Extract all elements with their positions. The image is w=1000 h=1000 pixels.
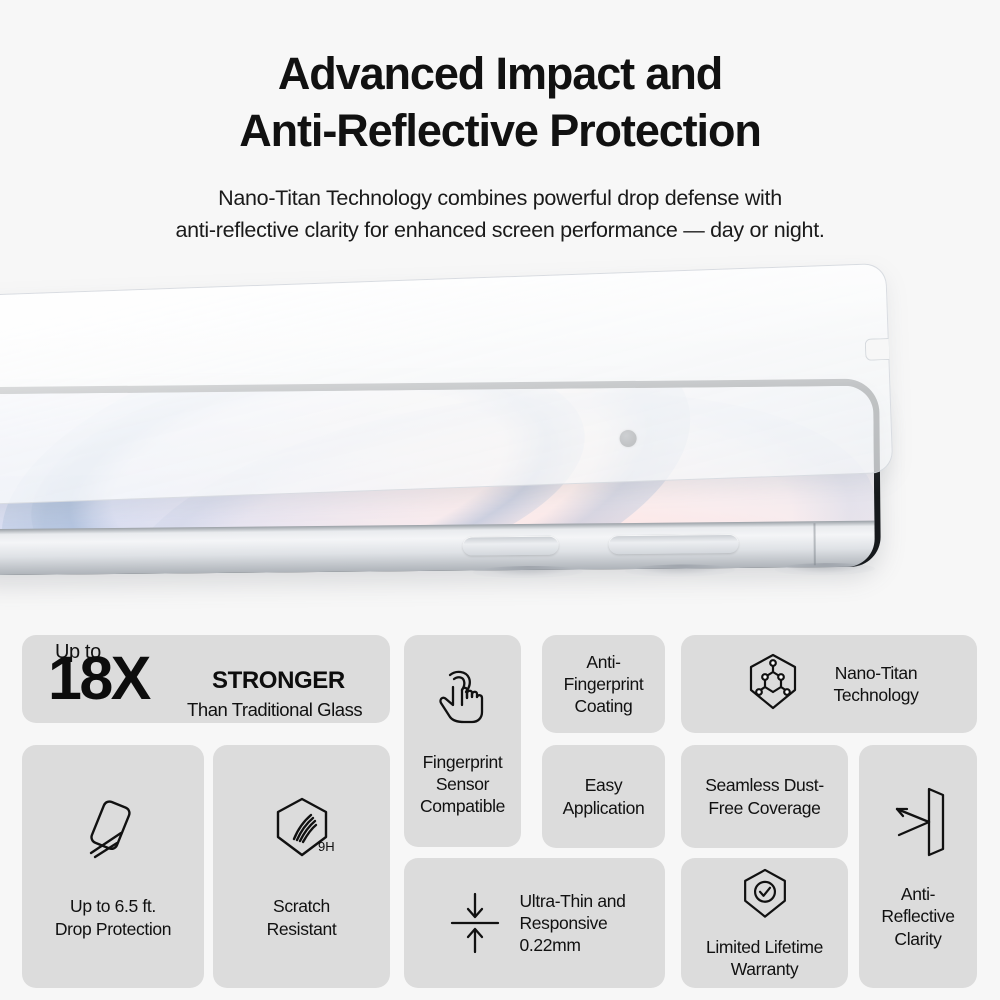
badge-limited-lifetime-warranty: Limited Lifetime Warranty [681, 858, 848, 988]
hero-stronger-label: STRONGER [212, 667, 345, 695]
badge-easy-application: Easy Application [542, 745, 665, 848]
phone-side-rail [0, 521, 875, 576]
badge-dust-free-coverage: Seamless Dust- Free Coverage [681, 745, 848, 848]
badge-nano-titan-technology: Nano-Titan Technology [681, 635, 977, 733]
antenna-seam [813, 523, 815, 565]
badge-label: Easy Application [563, 774, 645, 818]
product-image [0, 255, 1000, 625]
headline-line-2: Anti-Reflective Protection [0, 103, 1000, 160]
shield-check-icon [736, 866, 794, 924]
shield-9h-icon: 9H [264, 793, 340, 869]
phone-shadow [775, 563, 875, 576]
screen-protector-glass [0, 263, 893, 505]
hero-multiplier: 18X [48, 648, 149, 709]
headline-line-1: Advanced Impact and [0, 46, 1000, 103]
badge-anti-fingerprint-coating: Anti- Fingerprint Coating [542, 635, 665, 733]
subhead-line-1: Nano-Titan Technology combines powerful … [0, 183, 1000, 214]
shield-molecule-icon [739, 650, 807, 718]
badge-18x-stronger: Up to 18X STRONGER Than Traditional Glas… [22, 635, 390, 723]
power-button [463, 536, 559, 556]
badge-anti-reflective-clarity: Anti- Reflective Clarity [859, 745, 977, 988]
badge-label: Scratch Resistant [267, 895, 337, 939]
page-header: Advanced Impact and Anti-Reflective Prot… [0, 0, 1000, 246]
badge-label: Anti- Reflective Clarity [881, 883, 954, 950]
light-reflection-panel-icon [885, 783, 951, 861]
badge-label: Anti- Fingerprint Coating [564, 651, 644, 718]
badge-label: Nano-Titan Technology [833, 662, 918, 706]
camera-cutout-notch [865, 338, 890, 361]
touch-hand-icon [432, 665, 494, 727]
feature-badge-grid: Up to 18X STRONGER Than Traditional Glas… [0, 625, 1000, 1000]
page-title: Advanced Impact and Anti-Reflective Prot… [0, 46, 1000, 159]
hero-comparison-label: Than Traditional Glass [187, 699, 362, 721]
phone-shadow [625, 564, 735, 577]
badge-label: Up to 6.5 ft. Drop Protection [55, 895, 171, 939]
badge-ultra-thin: Ultra-Thin and Responsive 0.22mm [404, 858, 665, 988]
badge-drop-protection: Up to 6.5 ft. Drop Protection [22, 745, 204, 988]
volume-button [609, 534, 739, 554]
phone-shadow [473, 565, 583, 578]
badge-fingerprint-sensor: Fingerprint Sensor Compatible [404, 635, 521, 847]
badge-label: Ultra-Thin and Responsive 0.22mm [520, 890, 626, 957]
badge-label: Limited Lifetime Warranty [706, 936, 823, 980]
glass-gloss [0, 264, 888, 379]
badge-label: Fingerprint Sensor Compatible [420, 751, 505, 818]
badge-scratch-resistant: 9H Scratch Resistant [213, 745, 390, 988]
hardness-value: 9H [318, 839, 335, 854]
page-subtitle: Nano-Titan Technology combines powerful … [0, 183, 1000, 245]
falling-phone-icon [75, 793, 151, 869]
badge-label: Seamless Dust- Free Coverage [705, 774, 824, 818]
subhead-line-2: anti-reflective clarity for enhanced scr… [0, 215, 1000, 246]
thickness-arrows-icon [444, 888, 506, 958]
